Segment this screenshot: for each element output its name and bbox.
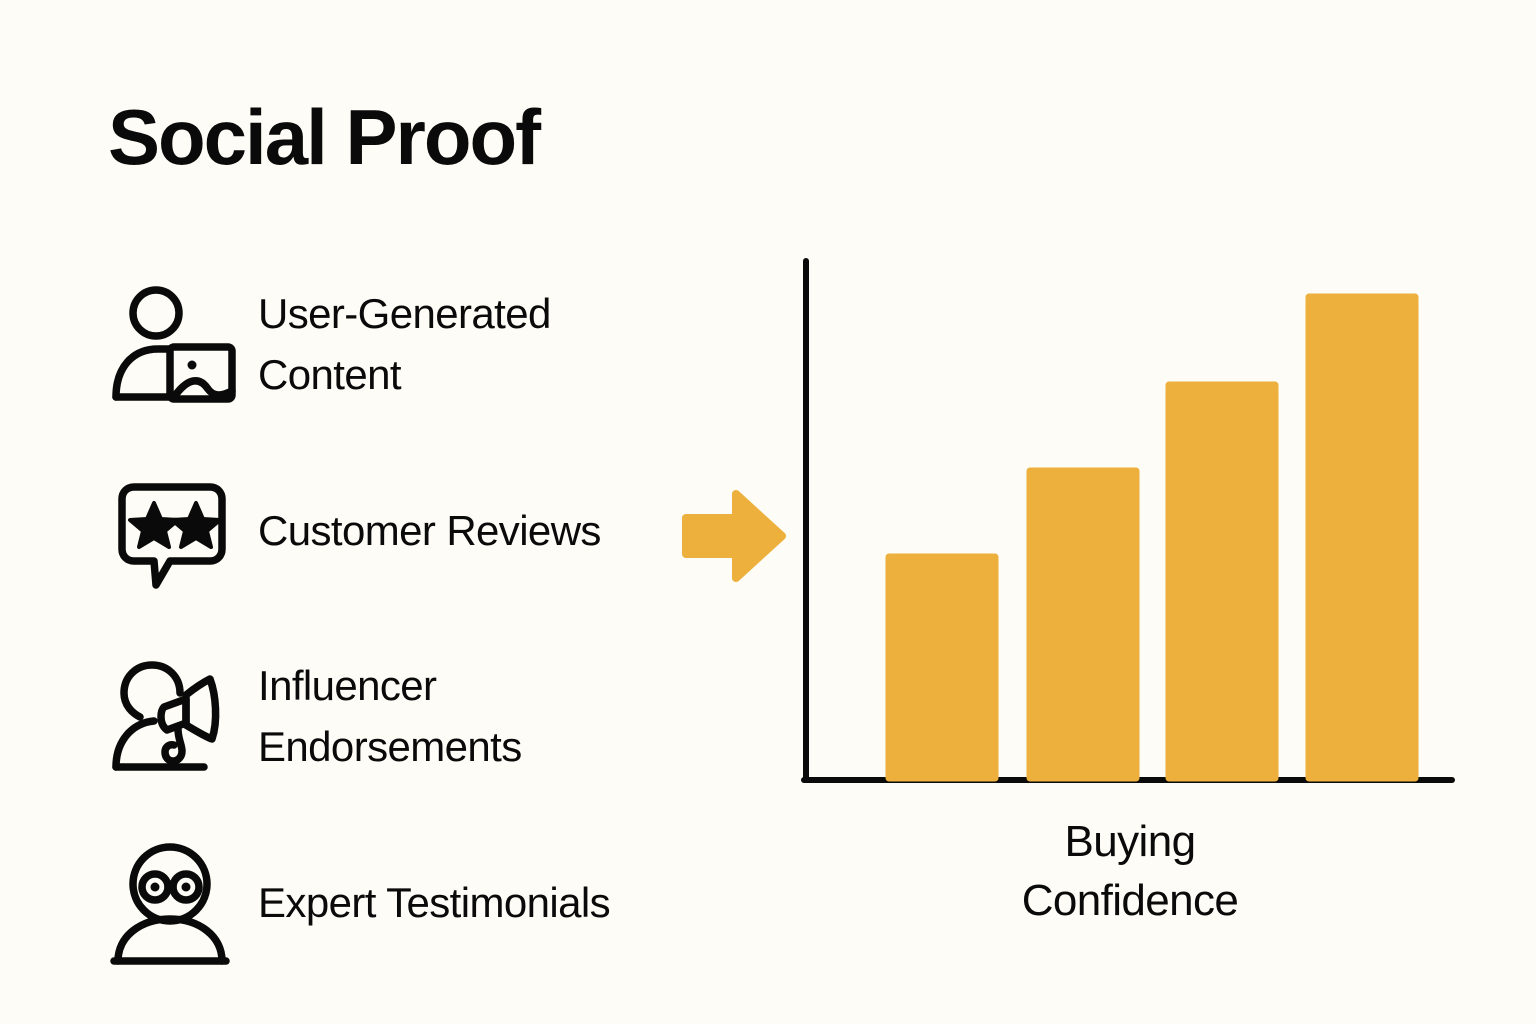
user-generated-content-icon [108,279,240,411]
infographic-canvas: Social Proof User-Generated Content [0,0,1536,1024]
bar-4 [1307,295,1417,780]
feature-list: User-Generated Content Customer Reviews [108,252,668,996]
chart-axis-caption: Buying Confidence [806,812,1454,931]
bar-1 [887,555,997,780]
bar-2 [1028,469,1138,780]
expert-testimonials-icon [108,837,240,969]
list-item-label: User-Generated Content [258,284,658,406]
influencer-endorsements-icon [108,651,240,783]
list-item-label: Influencer Endorsements [258,656,658,778]
caption-line-2: Confidence [806,871,1454,930]
list-item[interactable]: Customer Reviews [108,438,668,624]
list-item-label: Expert Testimonials [258,873,610,934]
bar-3 [1167,383,1277,780]
customer-reviews-icon [108,465,240,597]
page-title: Social Proof [108,98,539,176]
right-arrow-icon [682,488,788,584]
list-item-label: Customer Reviews [258,501,601,562]
list-item[interactable]: User-Generated Content [108,252,668,438]
list-item[interactable]: Influencer Endorsements [108,624,668,810]
list-item[interactable]: Expert Testimonials [108,810,668,996]
caption-line-1: Buying [806,812,1454,871]
buying-confidence-bar-chart [790,250,1470,810]
